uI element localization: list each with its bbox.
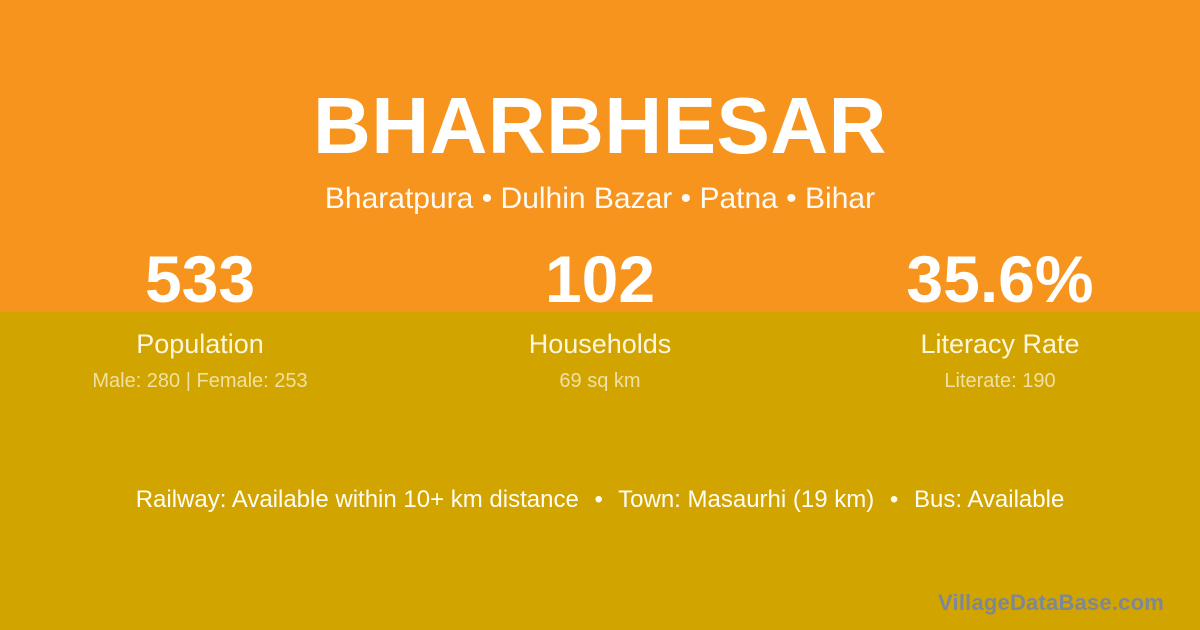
stat-sub-literacy-rate: Literate: 190 — [800, 370, 1200, 393]
facility-separator-1: • — [586, 486, 612, 513]
stat-label-literacy-rate: Literacy Rate — [800, 329, 1200, 359]
page-title: BHARBHESAR — [0, 81, 1200, 171]
stats-row: 533 Population Male: 280 | Female: 253 1… — [0, 246, 1200, 393]
village-info-card: BHARBHESAR Bharatpura • Dulhin Bazar • P… — [0, 0, 1200, 630]
stat-literacy-rate: 35.6% Literacy Rate Literate: 190 — [800, 246, 1200, 393]
breadcrumb: Bharatpura • Dulhin Bazar • Patna • Biha… — [0, 182, 1200, 216]
stat-value-households: 102 — [400, 246, 800, 312]
facility-separator-2: • — [881, 486, 907, 513]
facility-town: Town: Masaurhi (19 km) — [618, 486, 874, 513]
facility-railway: Railway: Available within 10+ km distanc… — [136, 486, 579, 513]
stat-households: 102 Households 69 sq km — [400, 246, 800, 393]
stat-label-households: Households — [400, 329, 800, 359]
stat-population: 533 Population Male: 280 | Female: 253 — [0, 246, 400, 393]
stat-value-literacy-rate: 35.6% — [800, 246, 1200, 312]
facilities-line: Railway: Available within 10+ km distanc… — [0, 484, 1200, 516]
stat-sub-population: Male: 280 | Female: 253 — [0, 370, 400, 393]
facility-bus: Bus: Available — [914, 486, 1064, 513]
site-brand: VillageDataBase.com — [938, 590, 1164, 616]
stat-value-population: 533 — [0, 246, 400, 312]
stat-sub-households: 69 sq km — [400, 370, 800, 393]
stat-label-population: Population — [0, 329, 400, 359]
